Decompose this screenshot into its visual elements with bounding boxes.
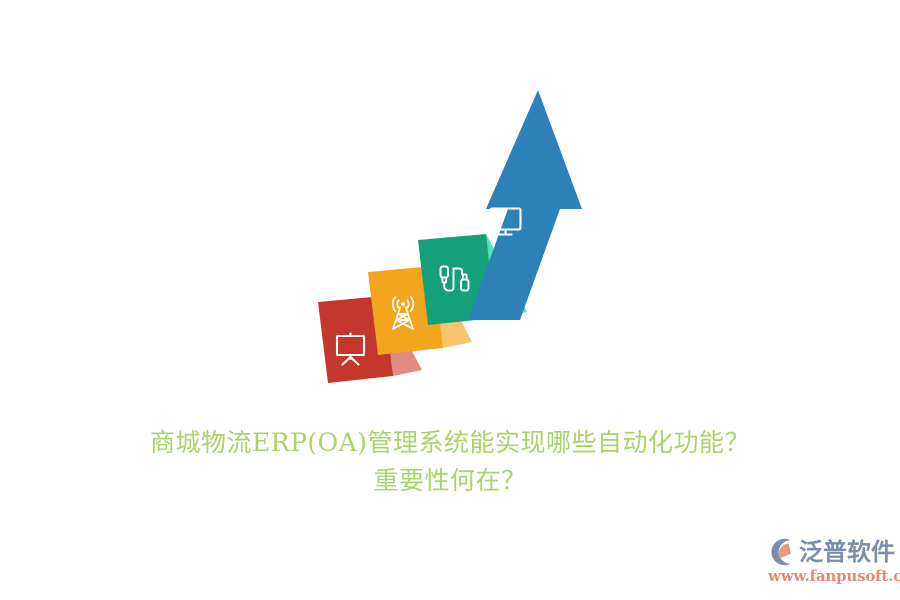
caption-text: 商城物流ERP(OA)管理系统能实现哪些自动化功能？ 重要性何在？ <box>0 424 900 500</box>
arrow-shape <box>468 90 582 320</box>
watermark-brand-row: 泛普软件 <box>766 536 895 568</box>
watermark-url-text: www.fanpusoft.com <box>768 567 900 585</box>
fanpu-logo-icon <box>766 537 796 567</box>
caption-line-1: 商城物流ERP(OA)管理系统能实现哪些自动化功能？ <box>0 424 900 462</box>
screenshot-canvas: 商城物流ERP(OA)管理系统能实现哪些自动化功能？ 重要性何在？ 泛普软件 w… <box>0 0 900 600</box>
watermark-logo: 泛普软件 www.fanpusoft.com <box>766 536 894 588</box>
caption-line-2: 重要性何在？ <box>0 462 900 500</box>
hero-graphic <box>290 80 590 410</box>
watermark-brand-text: 泛普软件 <box>799 538 895 566</box>
